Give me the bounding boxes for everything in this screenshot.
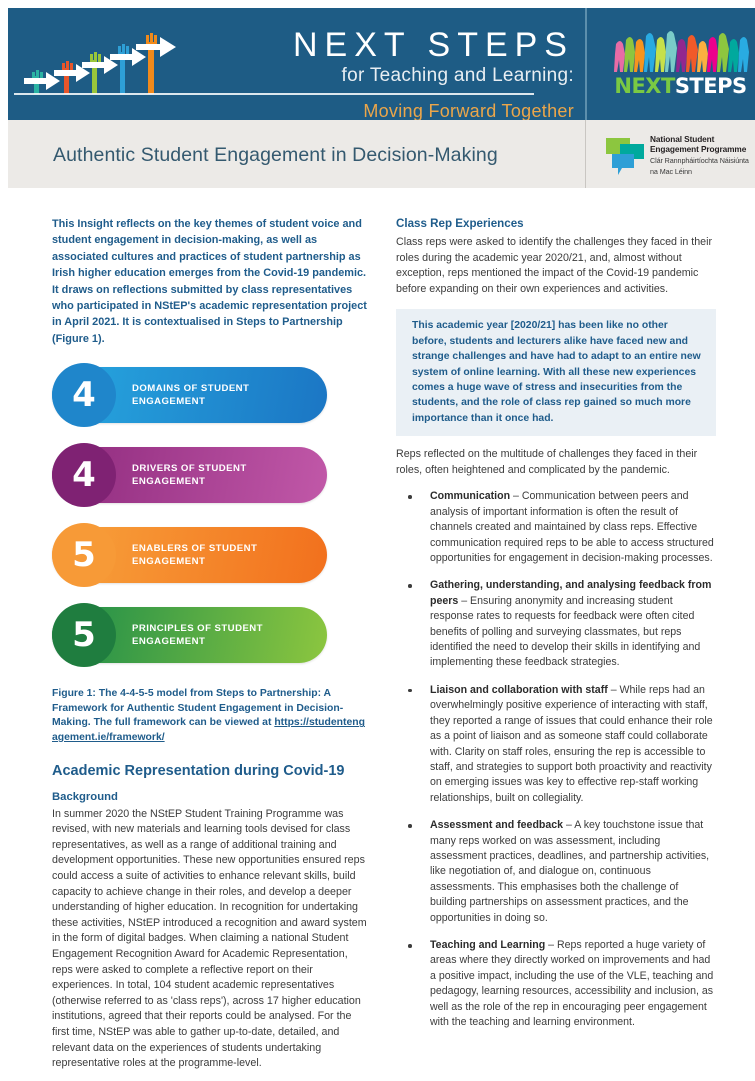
right-column: Class Rep Experiences Class reps were as… bbox=[396, 216, 716, 1042]
walking-people-icon bbox=[608, 24, 753, 76]
bullet-dot-icon bbox=[408, 824, 412, 828]
bullet-dot-icon bbox=[408, 944, 412, 948]
left-column: This Insight reflects on the key themes … bbox=[52, 216, 370, 1081]
pill-number-domains: 4 bbox=[52, 363, 116, 427]
pill-label-principles: PRINCIPLES OF STUDENT ENGAGEMENT bbox=[132, 622, 312, 648]
pill-principles: 5 PRINCIPLES OF STUDENT ENGAGEMENT bbox=[52, 607, 327, 663]
list-item: Communication – Communication between pe… bbox=[396, 489, 716, 566]
wordmark-line-1: NEXT STEPS bbox=[184, 26, 574, 64]
list-item: Liaison and collaboration with staff – W… bbox=[396, 683, 716, 806]
nstep-en-line-2: Engagement Programme bbox=[650, 144, 755, 154]
bullet-text: – Reps reported a huge variety of areas … bbox=[430, 939, 713, 1028]
bullet-text: – A key touchstone issue that many reps … bbox=[430, 819, 709, 923]
pill-drivers: 4 DRIVERS OF STUDENT ENGAGEMENT bbox=[52, 447, 327, 503]
pill-domains: 4 DOMAINS OF STUDENT ENGAGEMENT bbox=[52, 367, 327, 423]
document-title-bar: Authentic Student Engagement in Decision… bbox=[8, 120, 755, 188]
pill-label-domains: DOMAINS OF STUDENT ENGAGEMENT bbox=[132, 382, 312, 408]
pill-number-principles: 5 bbox=[52, 603, 116, 667]
nstep-ga-line-2: na Mac Léinn bbox=[650, 167, 755, 176]
next-steps-wordmark: NEXT STEPS for Teaching and Learning: Mo… bbox=[184, 26, 574, 120]
after-quote-paragraph: Reps reflected on the multitude of chall… bbox=[396, 447, 716, 478]
challenges-bullet-list: Communication – Communication between pe… bbox=[396, 489, 716, 1030]
pill-number-drivers: 4 bbox=[52, 443, 116, 507]
list-item: Teaching and Learning – Reps reported a … bbox=[396, 938, 716, 1030]
bullet-text: – Ensuring anonymity and increasing stud… bbox=[430, 595, 700, 669]
bullet-term: Liaison and collaboration with staff bbox=[430, 684, 608, 696]
bullet-dot-icon bbox=[408, 689, 412, 693]
page-title: Authentic Student Engagement in Decision… bbox=[53, 142, 573, 168]
wordmark-line-3: Moving Forward Together bbox=[184, 100, 574, 120]
titlebar-divider bbox=[585, 120, 586, 188]
badge-next-text: NEXT bbox=[614, 74, 674, 98]
document-page: NEXT STEPS for Teaching and Learning: Mo… bbox=[0, 0, 755, 1024]
figure-4455-model: 4 DOMAINS OF STUDENT ENGAGEMENT 4 DRIVER… bbox=[52, 367, 352, 663]
figure-caption: Figure 1: The 4-4-5-5 model from Steps t… bbox=[52, 687, 370, 745]
nstep-logo: National Student Engagement Programme Cl… bbox=[606, 134, 755, 178]
list-item: Assessment and feedback – A key touchsto… bbox=[396, 818, 716, 926]
rising-arrows-icon bbox=[14, 22, 184, 100]
list-item: Gathering, understanding, and analysing … bbox=[396, 578, 716, 670]
section-heading-class-rep-experiences: Class Rep Experiences bbox=[396, 216, 716, 231]
nstep-ga-line-1: Clár Rannpháirtíochta Náisiúnta bbox=[650, 156, 755, 165]
bullet-dot-icon bbox=[408, 584, 412, 588]
bullet-term: Communication bbox=[430, 490, 510, 502]
header-banner: NEXT STEPS for Teaching and Learning: Mo… bbox=[8, 8, 755, 120]
lead-paragraph: This Insight reflects on the key themes … bbox=[52, 216, 370, 347]
speech-bubbles-icon bbox=[606, 136, 644, 176]
badge-wordmark: NEXTSTEPS bbox=[608, 74, 753, 98]
class-rep-intro-paragraph: Class reps were asked to identify the ch… bbox=[396, 235, 716, 297]
section-heading-academic-representation: Academic Representation during Covid-19 bbox=[52, 762, 370, 781]
wordmark-line-2: for Teaching and Learning: bbox=[184, 64, 574, 87]
pull-quote: This academic year [2020/21] has been li… bbox=[396, 309, 716, 436]
pill-number-enablers: 5 bbox=[52, 523, 116, 587]
next-steps-badge-logo: NEXTSTEPS bbox=[608, 24, 753, 108]
subsection-heading-background: Background bbox=[52, 790, 370, 805]
bullet-text: – While reps had an overwhelmingly posit… bbox=[430, 684, 713, 804]
nstep-en-line-1: National Student bbox=[650, 134, 755, 144]
pill-enablers: 5 ENABLERS OF STUDENT ENGAGEMENT bbox=[52, 527, 327, 583]
pill-label-drivers: DRIVERS OF STUDENT ENGAGEMENT bbox=[132, 462, 312, 488]
badge-steps-text: STEPS bbox=[675, 74, 747, 98]
nstep-logo-text: National Student Engagement Programme Cl… bbox=[650, 134, 755, 177]
pill-label-enablers: ENABLERS OF STUDENT ENGAGEMENT bbox=[132, 542, 312, 568]
banner-vertical-divider bbox=[585, 8, 587, 120]
background-paragraph: In summer 2020 the NStEP Student Trainin… bbox=[52, 807, 370, 1072]
bullet-term: Assessment and feedback bbox=[430, 819, 563, 831]
bullet-term: Teaching and Learning bbox=[430, 939, 545, 951]
bullet-dot-icon bbox=[408, 495, 412, 499]
